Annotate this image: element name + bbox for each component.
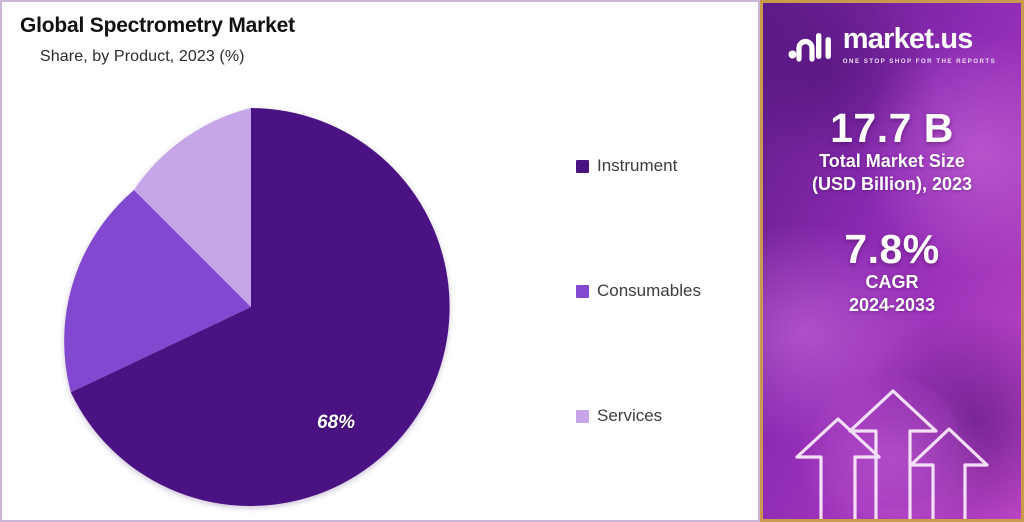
legend-swatch-consumables xyxy=(576,285,589,298)
brand-logo-text: market.us ONE STOP SHOP FOR THE REPORTS xyxy=(843,25,996,65)
brand-logo-word: market.us xyxy=(843,25,996,54)
pie-chart-svg xyxy=(51,107,451,507)
chart-legend: Instrument Consumables Services xyxy=(576,152,751,430)
legend-item-services[interactable]: Services xyxy=(576,402,751,430)
legend-label-consumables: Consumables xyxy=(597,281,701,301)
chart-panel: Global Spectrometry Market Share, by Pro… xyxy=(0,0,760,522)
chart-subtitle: Share, by Product, 2023 (%) xyxy=(40,48,295,66)
stat-market-size: 17.7 B Total Market Size (USD Billion), … xyxy=(763,107,1021,196)
stat-market-size-caption-1: Total Market Size xyxy=(763,150,1021,173)
brand-logo[interactable]: market.us ONE STOP SHOP FOR THE REPORTS xyxy=(788,25,996,65)
brand-content: market.us ONE STOP SHOP FOR THE REPORTS … xyxy=(763,3,1021,519)
stat-cagr: 7.8% CAGR 2024-2033 xyxy=(763,228,1021,317)
legend-swatch-services xyxy=(576,410,589,423)
stat-cagr-caption-2: 2024-2033 xyxy=(763,294,1021,317)
brand-panel: $ market.us ONE STOP SHOP FOR THE REPORT… xyxy=(760,0,1024,522)
infographic-root: Global Spectrometry Market Share, by Pro… xyxy=(0,0,1024,522)
stat-market-size-caption-2: (USD Billion), 2023 xyxy=(763,173,1021,196)
pie-chart: 68% xyxy=(51,107,451,507)
pie-slice-value-label: 68% xyxy=(317,412,355,434)
stat-cagr-caption-1: CAGR xyxy=(763,271,1021,294)
market-us-logo-mark-icon xyxy=(788,28,834,62)
stat-market-size-value: 17.7 B xyxy=(763,107,1021,150)
stat-cagr-value: 7.8% xyxy=(763,228,1021,271)
legend-label-services: Services xyxy=(597,406,662,426)
legend-swatch-instrument xyxy=(576,160,589,173)
legend-item-instrument[interactable]: Instrument xyxy=(576,152,751,180)
page-title: Global Spectrometry Market xyxy=(20,14,295,38)
legend-item-consumables[interactable]: Consumables xyxy=(576,277,751,305)
brand-logo-tagline: ONE STOP SHOP FOR THE REPORTS xyxy=(843,58,996,65)
chart-heading-group: Global Spectrometry Market Share, by Pro… xyxy=(20,14,295,66)
legend-label-instrument: Instrument xyxy=(597,156,677,176)
